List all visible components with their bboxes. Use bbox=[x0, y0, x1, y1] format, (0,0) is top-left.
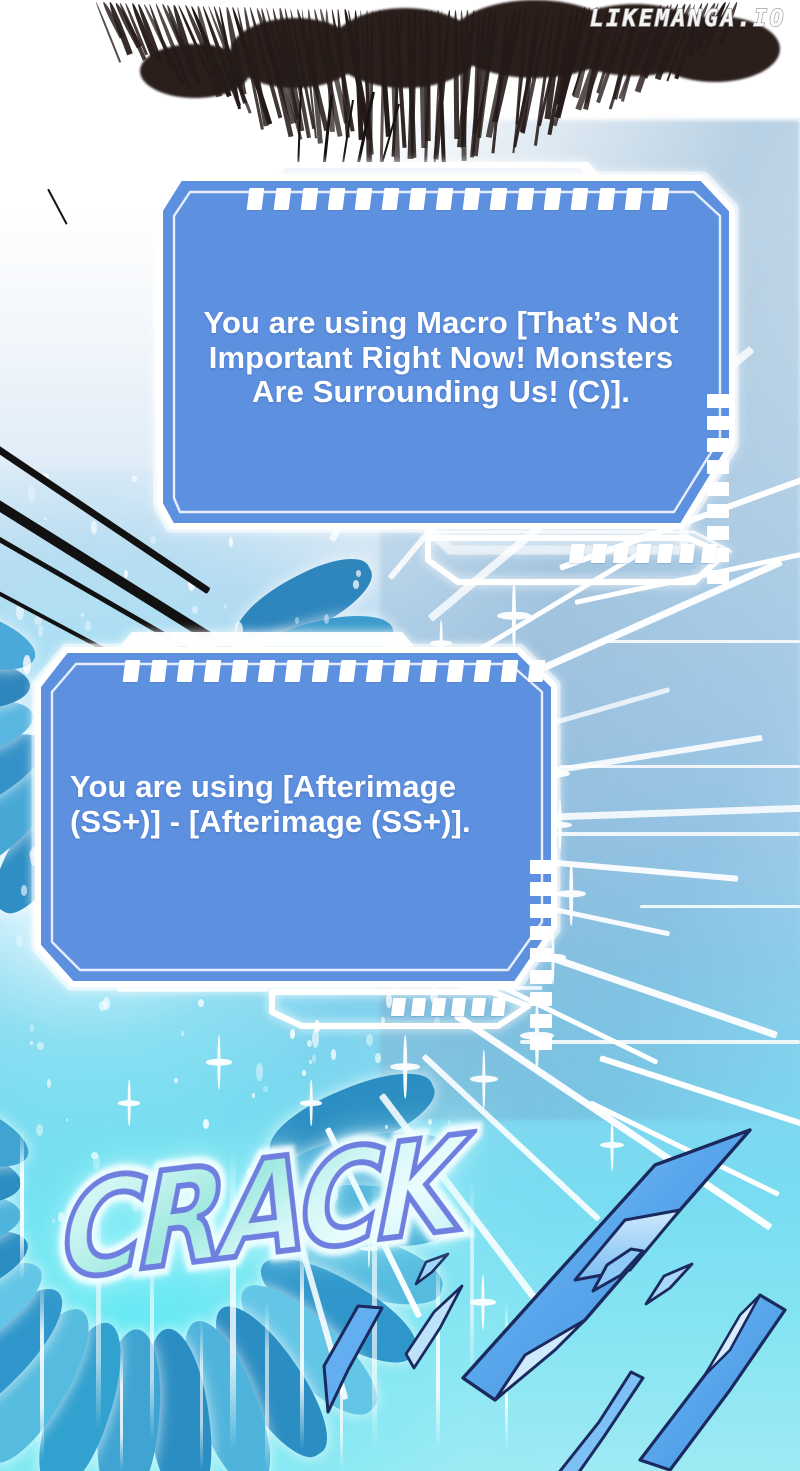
site-watermark: LIKEMANGA.IO bbox=[590, 6, 786, 32]
panel-tick bbox=[274, 188, 292, 210]
panel-tick bbox=[328, 188, 346, 210]
panel-tick bbox=[652, 188, 670, 210]
light-streak bbox=[120, 1350, 123, 1470]
panel-tick bbox=[247, 188, 265, 210]
panel-tick bbox=[411, 998, 426, 1016]
burst-petal bbox=[0, 1068, 38, 1184]
panel-tick bbox=[501, 660, 519, 682]
speck bbox=[81, 613, 84, 617]
speck bbox=[295, 617, 299, 624]
crystal-shard-thin bbox=[545, 1370, 665, 1471]
panel-tick bbox=[613, 544, 629, 563]
speck bbox=[203, 1119, 209, 1129]
panel-tick bbox=[393, 660, 411, 682]
panel-afterimage-text: You are using [Afterimage (SS+)] - [Afte… bbox=[70, 770, 536, 839]
panel-tick bbox=[471, 998, 486, 1016]
panel-tick bbox=[490, 188, 508, 210]
panel-tick bbox=[657, 544, 673, 563]
sparkle bbox=[206, 1035, 232, 1090]
panel-tick bbox=[285, 660, 303, 682]
panel-tick bbox=[517, 188, 535, 210]
panel-tick bbox=[231, 660, 249, 682]
sparkle bbox=[390, 1035, 420, 1098]
panel-tick bbox=[530, 970, 552, 984]
panel-tick bbox=[591, 544, 607, 563]
sparkle bbox=[118, 1080, 140, 1126]
panel-tick bbox=[391, 998, 406, 1016]
panel-tick bbox=[707, 570, 729, 584]
panel-tick bbox=[530, 882, 552, 896]
panel-tick bbox=[707, 460, 729, 474]
panel-tick bbox=[301, 188, 319, 210]
panel-macro-text: You are using Macro [That’s Not Importan… bbox=[184, 306, 698, 410]
panel-tick bbox=[701, 544, 717, 563]
speck bbox=[91, 521, 96, 535]
panel-tick bbox=[491, 998, 506, 1016]
panel-tick bbox=[530, 926, 552, 940]
speck bbox=[52, 1219, 55, 1223]
speck bbox=[256, 1063, 263, 1080]
speck bbox=[44, 517, 47, 520]
crystal-shard-needle bbox=[400, 1280, 480, 1375]
speck bbox=[37, 1042, 44, 1051]
panel-tick bbox=[355, 188, 373, 210]
speck bbox=[28, 486, 35, 502]
panel-tick bbox=[312, 660, 330, 682]
speck bbox=[290, 1029, 295, 1039]
panel-tick bbox=[382, 188, 400, 210]
hairline bbox=[600, 640, 800, 643]
panel-tick bbox=[544, 188, 562, 210]
panel-tick bbox=[339, 660, 357, 682]
panel-tick bbox=[707, 438, 729, 452]
panel-tick bbox=[258, 660, 276, 682]
speck bbox=[36, 1124, 43, 1136]
panel-tick bbox=[625, 188, 643, 210]
speck bbox=[375, 1053, 381, 1063]
panel-tick bbox=[451, 998, 466, 1016]
speck bbox=[312, 1054, 316, 1064]
panel-tick bbox=[530, 1014, 552, 1028]
panel-tick bbox=[530, 948, 552, 962]
panel-tick bbox=[177, 660, 195, 682]
light-streak bbox=[200, 1320, 203, 1470]
speck bbox=[331, 1049, 335, 1060]
panel-tick bbox=[436, 188, 454, 210]
system-panel-macro[interactable]: You are using Macro [That’s Not Importan… bbox=[128, 146, 754, 616]
panel-tick bbox=[420, 660, 438, 682]
panel-tick bbox=[598, 188, 616, 210]
hairline bbox=[640, 905, 800, 908]
speck bbox=[252, 1093, 255, 1098]
panel-tick bbox=[569, 544, 585, 563]
panel-tick bbox=[463, 188, 481, 210]
speck bbox=[366, 1034, 374, 1046]
panel-tick bbox=[474, 660, 492, 682]
panel-tick bbox=[707, 526, 729, 540]
panel-tick bbox=[431, 998, 446, 1016]
crystal-shard-tri bbox=[318, 1300, 404, 1420]
hairline bbox=[520, 1040, 800, 1044]
speck bbox=[181, 1031, 184, 1037]
panel-tick bbox=[679, 544, 695, 563]
panel-tick bbox=[447, 660, 465, 682]
panel-tick bbox=[707, 394, 729, 408]
panel-tick bbox=[528, 660, 546, 682]
hairline bbox=[560, 765, 800, 768]
panel-tick bbox=[707, 416, 729, 430]
light-streak bbox=[20, 1130, 24, 1280]
sparkle bbox=[300, 1080, 322, 1126]
panel-tick bbox=[707, 504, 729, 518]
panel-tick bbox=[571, 188, 589, 210]
panel-tick bbox=[409, 188, 427, 210]
panel-tick bbox=[530, 904, 552, 918]
panel-tick bbox=[530, 1036, 552, 1050]
panel-tick bbox=[707, 482, 729, 496]
crystal-shard-small-b bbox=[640, 1260, 704, 1316]
panel-tick bbox=[530, 992, 552, 1006]
comic-page: CRACK CRACK bbox=[0, 0, 800, 1471]
light-streak bbox=[40, 1280, 44, 1460]
speck bbox=[302, 1070, 306, 1076]
panel-tick bbox=[204, 660, 222, 682]
panel-tick bbox=[530, 860, 552, 874]
panel-tick bbox=[123, 660, 141, 682]
panel-tick bbox=[635, 544, 651, 563]
speck bbox=[174, 1078, 178, 1083]
light-streak bbox=[265, 1300, 269, 1470]
system-panel-afterimage[interactable]: You are using [Afterimage (SS+)] - [Afte… bbox=[22, 630, 592, 1030]
panel-tick bbox=[366, 660, 384, 682]
sparkle bbox=[470, 1050, 498, 1109]
panel-tick bbox=[150, 660, 168, 682]
